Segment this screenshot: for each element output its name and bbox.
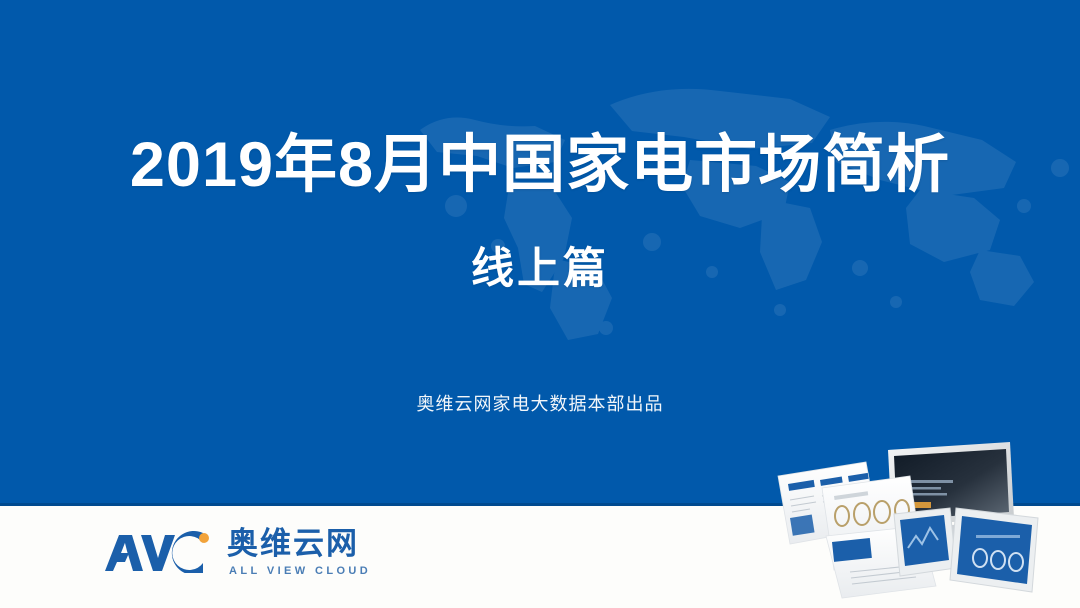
tablet-left-icon — [894, 508, 956, 576]
byline-text: 奥维云网家电大数据本部出品 — [0, 390, 1080, 416]
avc-logo-text: 奥维云网 ALL VIEW CLOUD — [227, 528, 371, 577]
avc-logo-english: ALL VIEW CLOUD — [229, 566, 371, 577]
devices-illustration — [770, 440, 1080, 608]
world-map-watermark — [360, 10, 1080, 430]
page-subtitle: 线上篇 — [0, 246, 1080, 293]
presentation-slide: 2019年8月中国家电市场简析 线上篇 奥维云网家电大数据本部出品 奥维云网 A… — [0, 0, 1080, 608]
avc-logo-mark-icon — [103, 531, 215, 573]
tablet-right-icon — [950, 508, 1038, 592]
page-title: 2019年8月中国家电市场简析 — [0, 132, 1080, 198]
avc-logo: 奥维云网 ALL VIEW CLOUD — [103, 524, 371, 580]
avc-logo-chinese: 奥维云网 — [227, 528, 371, 559]
